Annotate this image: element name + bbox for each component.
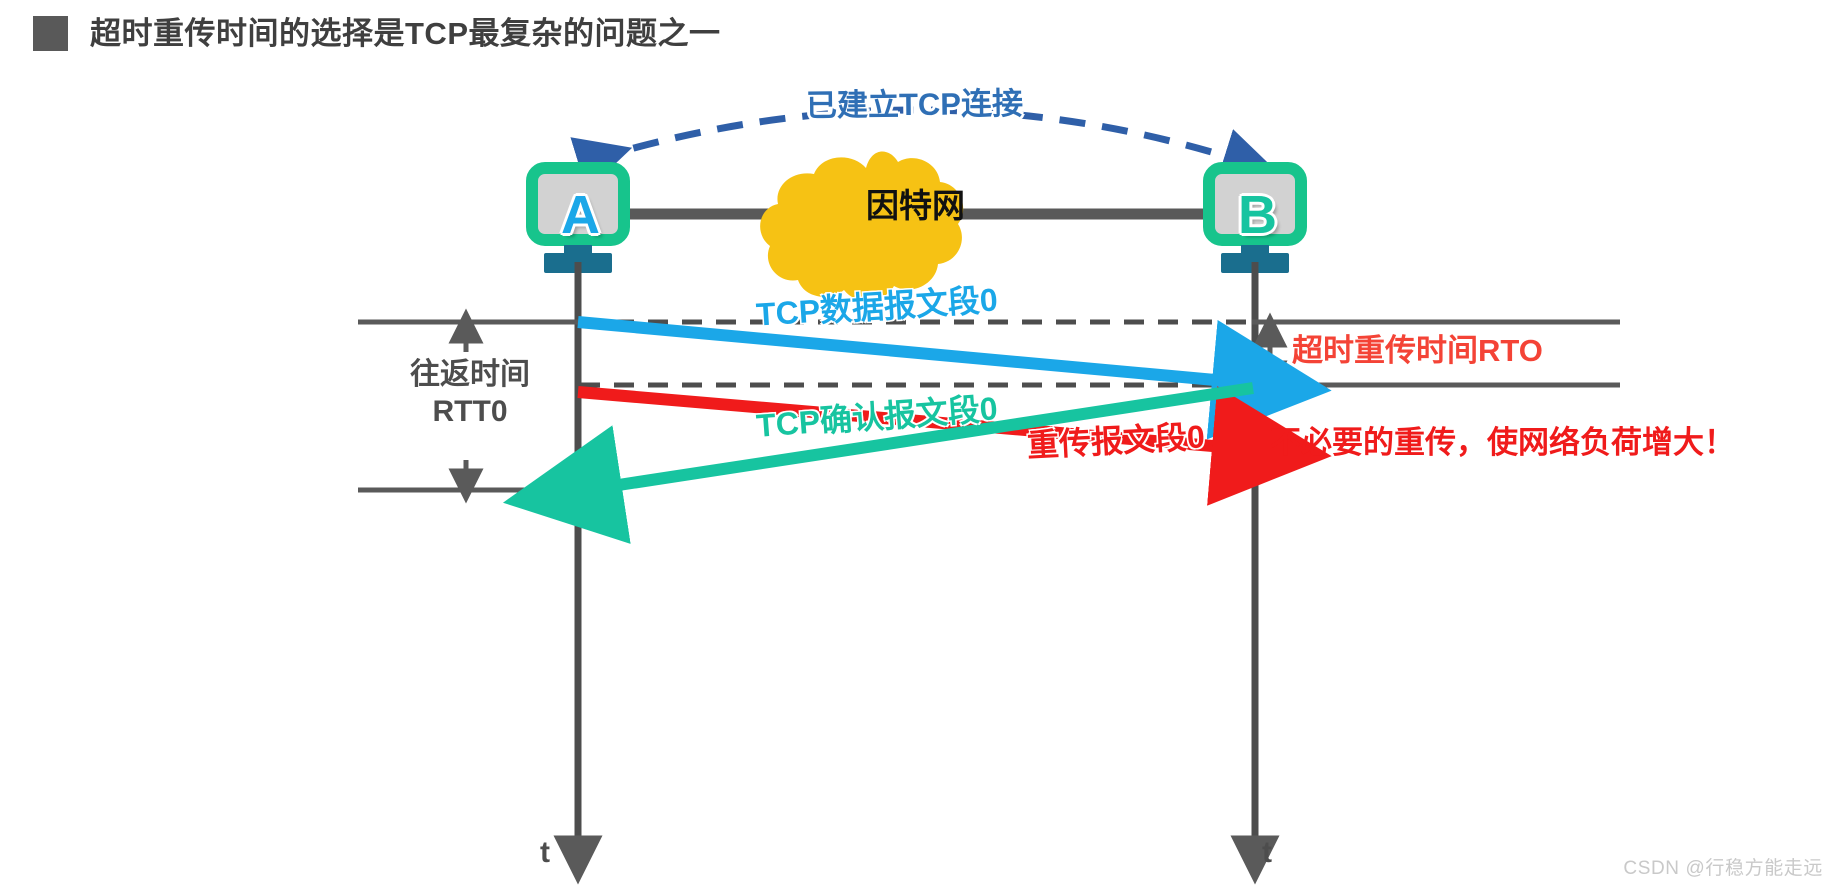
internet-cloud-label: 因特网 [866,188,965,224]
arrow-tcp-data-segment [578,322,1248,383]
rto-annotation: 超时重传时间RTO [1292,334,1543,368]
host-a-label: A [561,188,600,242]
diagram-page: 超时重传时间的选择是TCP最复杂的问题之一 [0,0,1837,892]
timeline-a-axis-label: t [540,836,550,869]
internet-cloud-icon [760,151,963,300]
rtt-annotation: 往返时间 RTT0 [390,358,550,428]
rtt-annotation-line2: RTT0 [390,395,550,428]
watermark: CSDN @行稳方能走远 [1623,853,1823,880]
timeline-b-axis-label: t [1262,836,1272,869]
rtt-annotation-line1: 往返时间 [410,358,530,391]
host-b-label: B [1238,188,1277,242]
established-connection-label: 已建立TCP连接 [806,87,1023,123]
warning-annotation: 不必要的重传，使网络负荷增大！ [1270,426,1735,460]
